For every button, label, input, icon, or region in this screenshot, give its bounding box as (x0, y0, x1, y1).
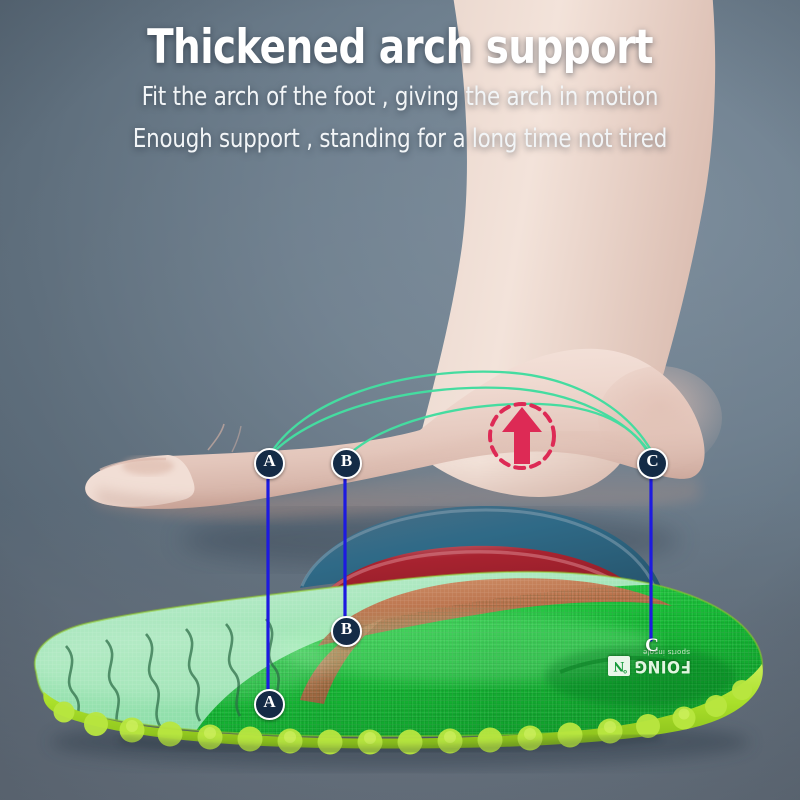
foot-marker-c[interactable]: C (637, 448, 668, 479)
brand-mark-icon: o N (608, 656, 630, 676)
lift-force-callout (484, 398, 560, 474)
page-title: Thickened arch support (32, 24, 768, 73)
product-image-canvas: A B C A B C FOING sports insole o N Thic… (0, 0, 800, 800)
foot-marker-b[interactable]: B (331, 448, 362, 479)
foot-marker-a[interactable]: A (254, 448, 285, 479)
insole-marker-a[interactable]: A (254, 689, 285, 720)
insole-marker-c[interactable]: C (641, 635, 663, 657)
subtitle-line-1: Fit the arch of the foot , giving the ar… (28, 80, 772, 115)
up-arrow-icon (502, 407, 542, 464)
brand-logo: FOING sports insole o N (608, 656, 691, 676)
subtitle-line-2: Enough support , standing for a long tim… (28, 122, 772, 157)
insole-marker-b[interactable]: B (331, 616, 362, 647)
marketing-copy-block: Thickened arch support Fit the arch of t… (0, 24, 800, 156)
brand-mark-superscript: o (623, 668, 627, 674)
brand-wordmark: FOING (634, 658, 691, 675)
